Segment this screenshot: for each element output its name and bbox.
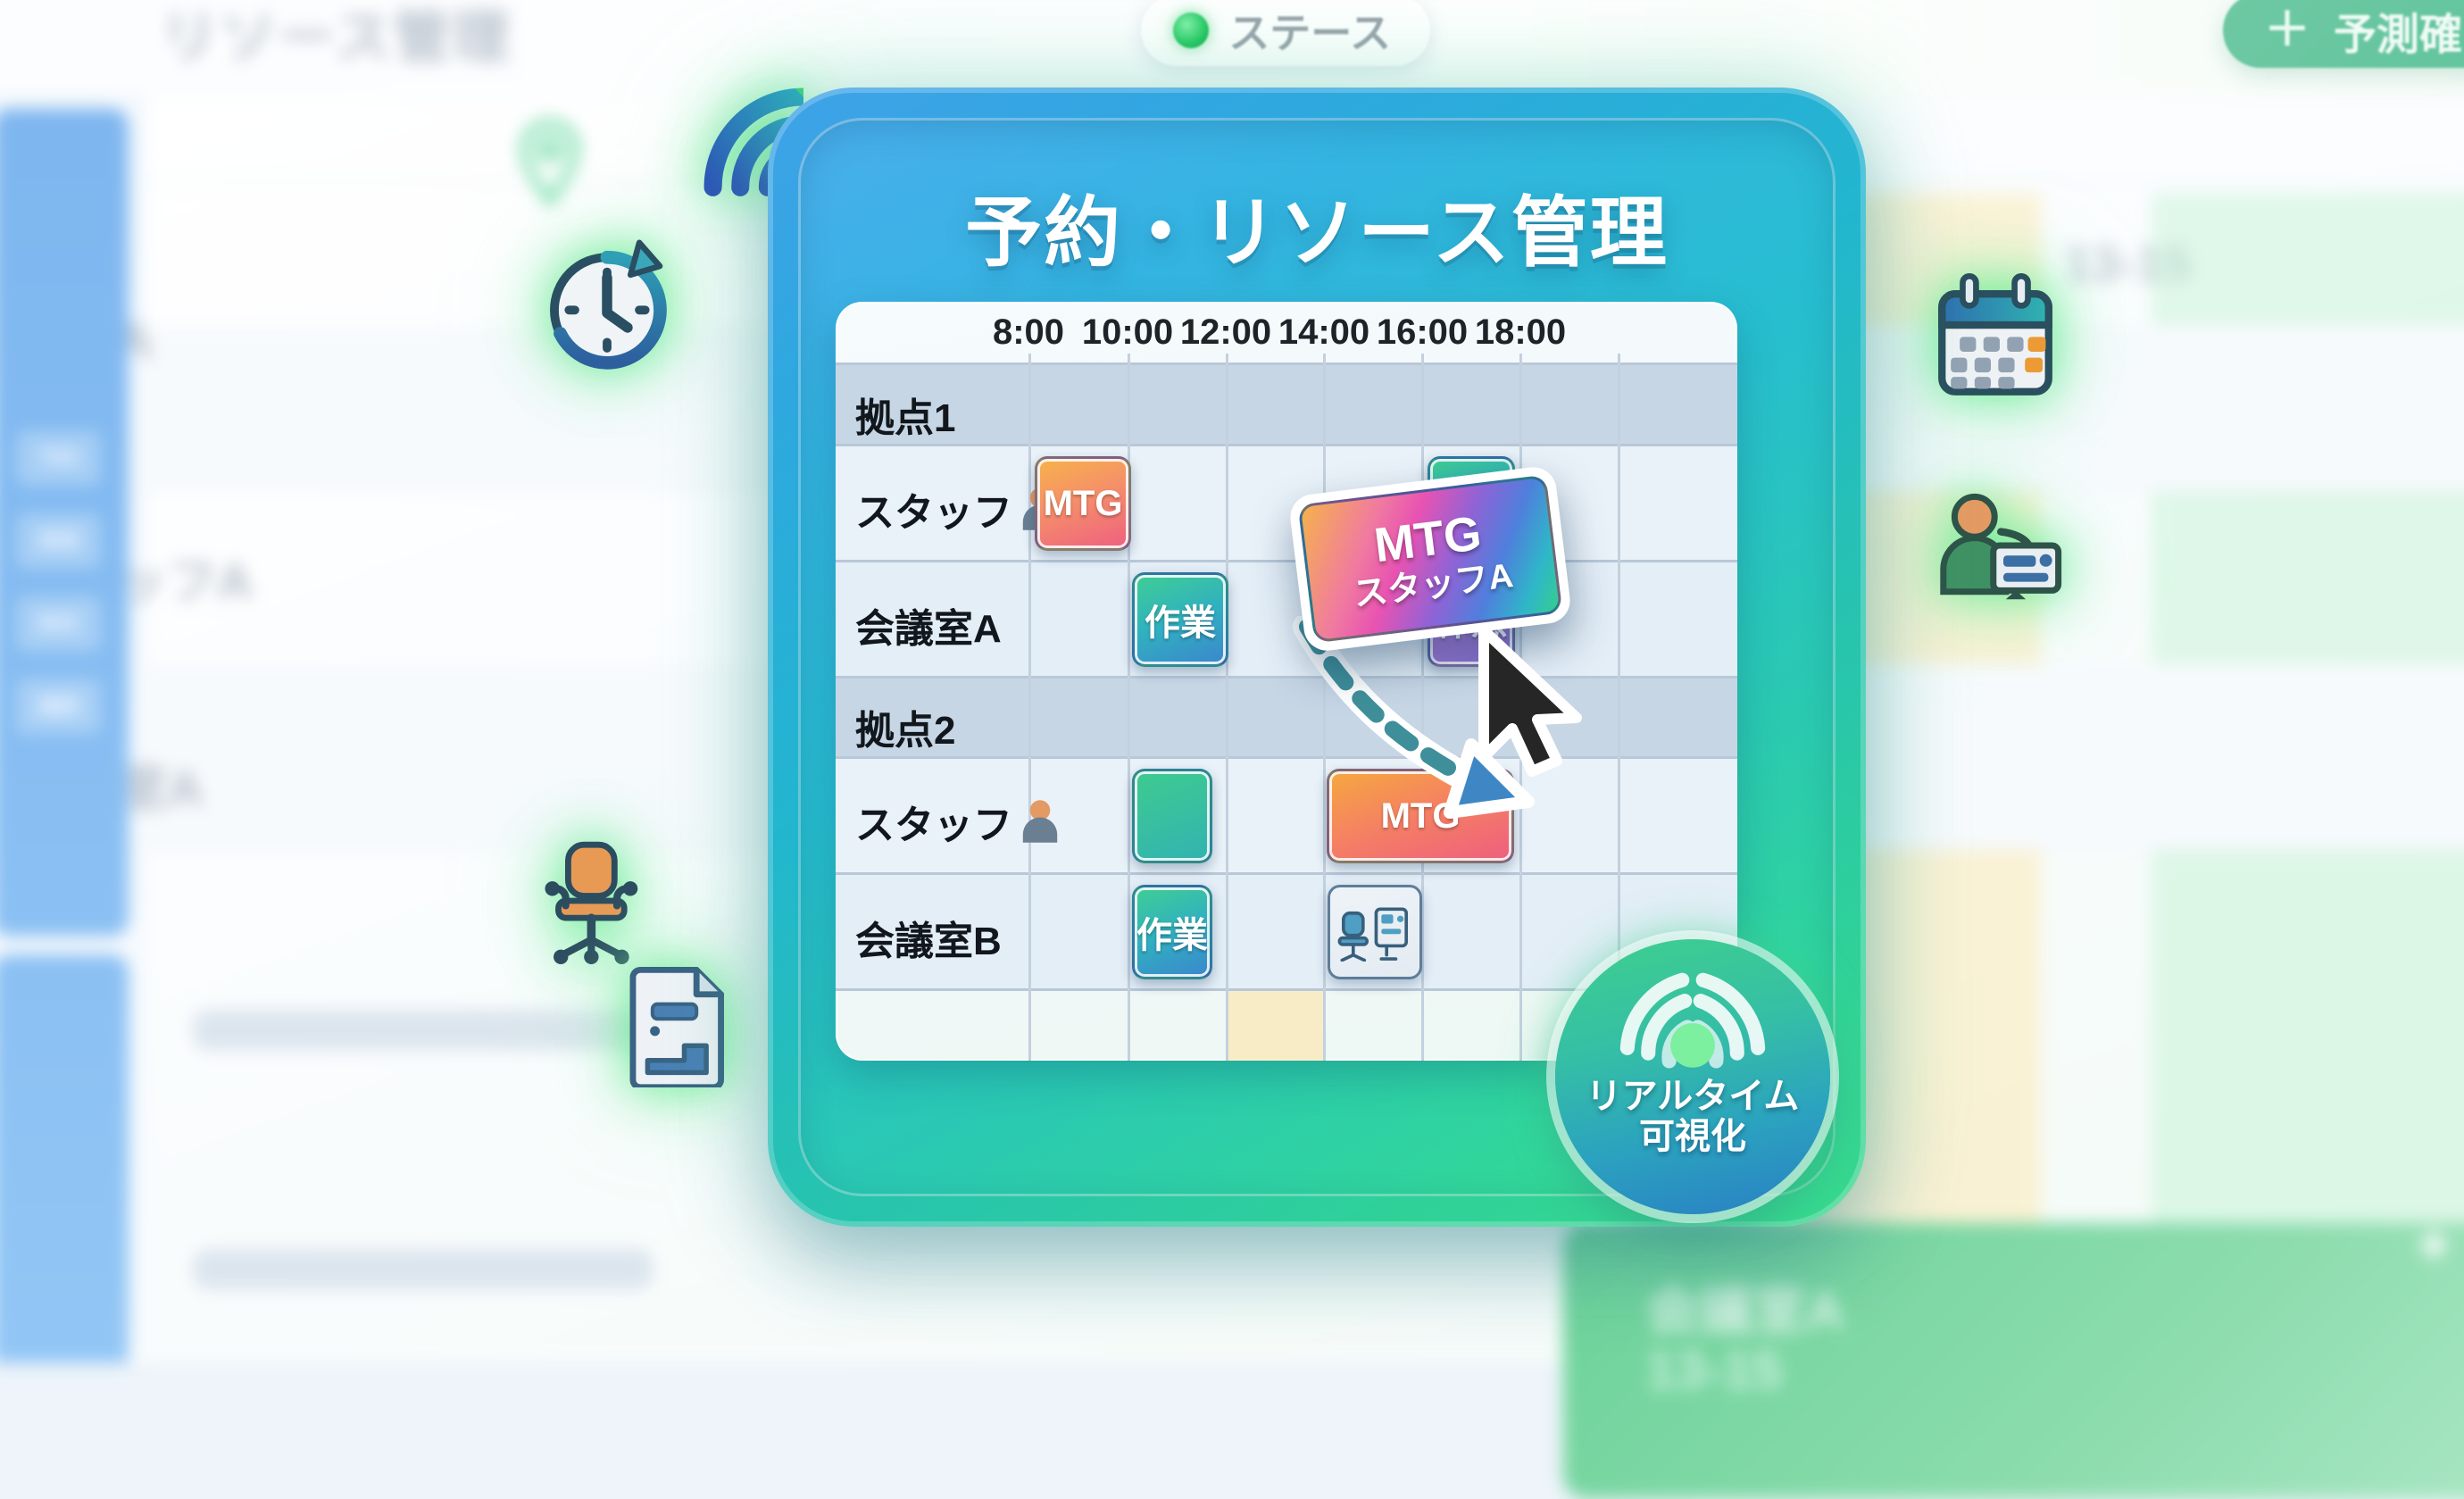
document-workstation-icon	[623, 962, 736, 1087]
row-label-group-2: 拠点2	[855, 698, 955, 755]
calendar-icon	[1921, 264, 2069, 412]
status-dot-icon	[1173, 12, 1209, 48]
wifi-signal-icon	[1613, 970, 1772, 1077]
time-label-0: 8:00	[993, 312, 1064, 353]
booking-block-mtg-staff1[interactable]: MTG	[1035, 456, 1131, 551]
office-chair-icon	[534, 837, 646, 964]
add-forecast-button[interactable]: ＋ 予測確	[2223, 0, 2464, 68]
background-sidebar-item-0[interactable]: 予約	[16, 430, 101, 486]
page-title: 予約・リソース管理	[798, 170, 1836, 281]
row-label-staff-1-text: スタッフ	[855, 480, 1012, 537]
sparkle-icon: ✦	[2409, 1212, 2458, 1281]
row-label-room-a: 会議室A	[855, 596, 1002, 654]
background-ghost-bar-1	[193, 1249, 653, 1289]
background-sidebar-item-1[interactable]: 資源	[16, 513, 101, 569]
schedule-time-header: 8:00 10:00 12:00 14:00 16:00 18:00	[836, 302, 1737, 362]
person-icon	[1020, 798, 1061, 845]
background-green-card-line1: 会議室A	[1646, 1267, 1844, 1345]
plus-icon: ＋	[2264, 7, 2310, 54]
grid-hline-1	[836, 444, 1737, 446]
schedule-row-group-1	[836, 365, 1737, 446]
row-label-group-1: 拠点1	[855, 386, 955, 443]
status-badge[interactable]: ステース	[1141, 0, 1430, 66]
background-sidebar-item-2[interactable]: 設定	[16, 596, 101, 652]
grid-vline-2	[1226, 354, 1228, 1061]
realtime-badge: リアルタイム 可視化	[1555, 939, 1830, 1214]
dragged-booking-card-inner: MTG スタッフA	[1298, 475, 1563, 644]
clock-history-icon	[534, 234, 680, 380]
mouse-cursor-icon	[1473, 625, 1589, 782]
dragged-card-title: MTG	[1371, 509, 1484, 570]
time-label-5: 18:00	[1475, 312, 1566, 353]
booking-block-work-roomb[interactable]: 作業	[1132, 885, 1212, 979]
grid-hline-0	[836, 362, 1737, 365]
add-forecast-button-label: 予測確	[2334, 0, 2462, 62]
grid-hline-2	[836, 560, 1737, 562]
time-label-2: 12:00	[1180, 312, 1271, 353]
grid-hline-5	[836, 872, 1737, 875]
time-label-1: 10:00	[1082, 312, 1173, 353]
chair-desk-icon	[1335, 903, 1415, 962]
row-label-staff-2-text: スタッフ	[855, 793, 1012, 850]
grid-vline-6	[1618, 354, 1620, 1061]
realtime-badge-line1: リアルタイム	[1586, 1077, 1800, 1117]
row-label-staff-2: スタッフ	[855, 793, 1061, 850]
background-sidebar-item-3[interactable]: 履歴	[16, 679, 101, 734]
background-green-card-line2: 13-15	[1646, 1339, 1783, 1401]
time-label-4: 16:00	[1377, 312, 1468, 353]
time-label-3: 14:00	[1278, 312, 1369, 353]
background-green-card[interactable]: 会議室A 13-15	[1563, 1223, 2464, 1499]
person-desk-icon	[1928, 489, 2078, 602]
row-label-staff-1: スタッフ	[855, 480, 1061, 537]
background-sidebar-lower[interactable]	[0, 954, 129, 1362]
background-app-title: リソース管理	[161, 0, 511, 97]
location-pin-icon	[515, 118, 585, 206]
grid-vline-0	[1028, 354, 1031, 1061]
booking-block-empty-staff2[interactable]	[1132, 769, 1212, 863]
booking-block-work-rooma[interactable]: 作業	[1132, 572, 1228, 667]
booking-block-equipment-roomb[interactable]	[1328, 885, 1422, 979]
status-badge-label: ステース	[1228, 1, 1391, 60]
row-label-room-b: 会議室B	[855, 909, 1002, 966]
realtime-badge-line2: 可視化	[1639, 1117, 1746, 1157]
